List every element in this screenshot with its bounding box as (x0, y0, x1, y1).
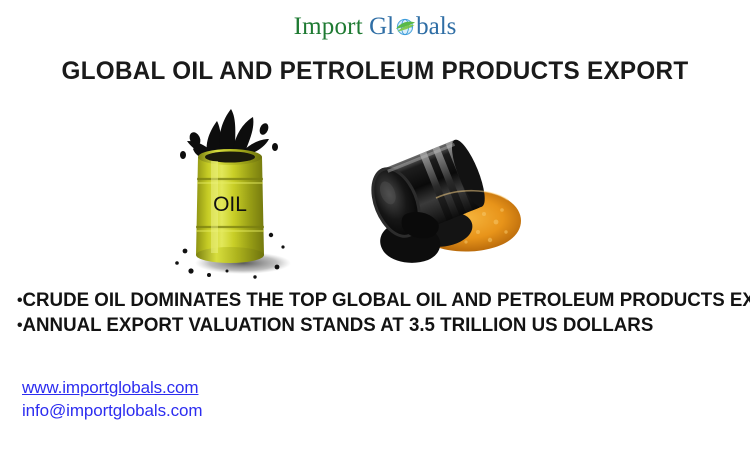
email-address[interactable]: info@importglobals.com (22, 399, 202, 422)
logo-text-import: Import (294, 13, 363, 40)
bullet-text: ANNUAL EXPORT VALUATION STANDS AT 3.5 TR… (23, 315, 654, 336)
page-title: GLOBAL OIL AND PETROLEUM PRODUCTS EXPORT (11, 56, 739, 86)
bullet-text: CRUDE OIL DOMINATES THE TOP GLOBAL OIL A… (23, 290, 750, 311)
website-link[interactable]: www.importglobals.com (22, 376, 202, 399)
brand-logo: Import Gl bals (0, 12, 750, 42)
footer-contact: www.importglobals.com info@importglobals… (22, 376, 202, 422)
bullet-item-2: •ANNUAL EXPORT VALUATION STANDS AT 3.5 T… (17, 313, 732, 338)
drum-label: OIL (213, 193, 247, 216)
slide-canvas: Import Gl bals GLOBAL OIL AND PETROLEUM … (0, 0, 750, 450)
logo-text-bals: bals (416, 13, 456, 40)
oil-drum-yellow-splash-icon: OIL (165, 105, 295, 280)
artwork-area: OIL (0, 100, 750, 280)
logo-text-gl: Gl (369, 13, 394, 40)
bullet-item-1: •CRUDE OIL DOMINATES THE TOP GLOBAL OIL … (17, 288, 732, 313)
oil-drum-black-spill-icon (350, 122, 540, 282)
globe-icon (394, 16, 416, 38)
bullet-list: •CRUDE OIL DOMINATES THE TOP GLOBAL OIL … (17, 288, 743, 338)
